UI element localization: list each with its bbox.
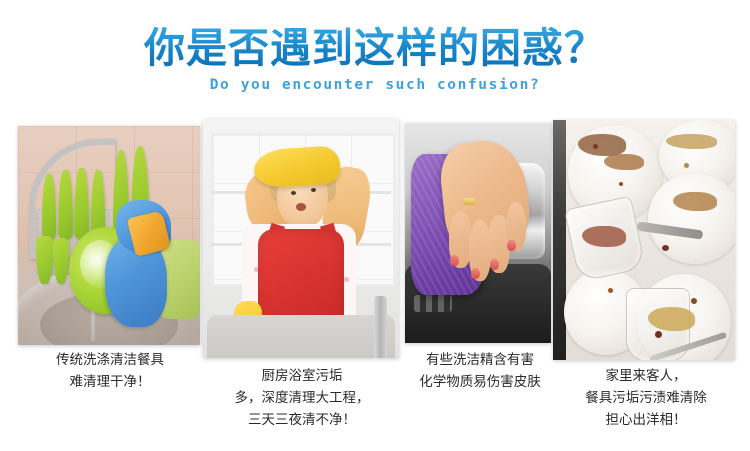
promo-banner: 你是否遇到这样的困惑？ Do you encounter such confus… [0,0,750,451]
panel-caption-1: 传统洗涤清洁餐具 难清理干净！ [8,350,212,394]
image-panel-3 [405,123,551,343]
image-panel-2 [203,119,399,358]
photo-green-dishes-rack [18,126,200,345]
image-panel-1 [18,126,200,345]
page-subtitle: Do you encounter such confusion? [0,70,750,93]
photo-child-tired-at-sink [203,119,399,358]
panel-caption-3: 有些洗洁精含有害 化学物质易伤害皮肤 [392,350,568,394]
header: 你是否遇到这样的困惑？ Do you encounter such confus… [0,0,750,93]
photo-pile-of-dirty-dishes [553,120,735,360]
image-panel-4 [553,120,735,360]
page-title: 你是否遇到这样的困惑？ [0,0,750,70]
panel-caption-2: 厨房浴室污垢 多，深度清理大工程， 三天三夜清不净！ [196,366,408,432]
photo-purple-cloth-wiping-appliance [405,123,551,343]
panel-caption-4: 家里来客人， 餐具污垢污渍难清除 担心出洋相！ [548,366,744,432]
